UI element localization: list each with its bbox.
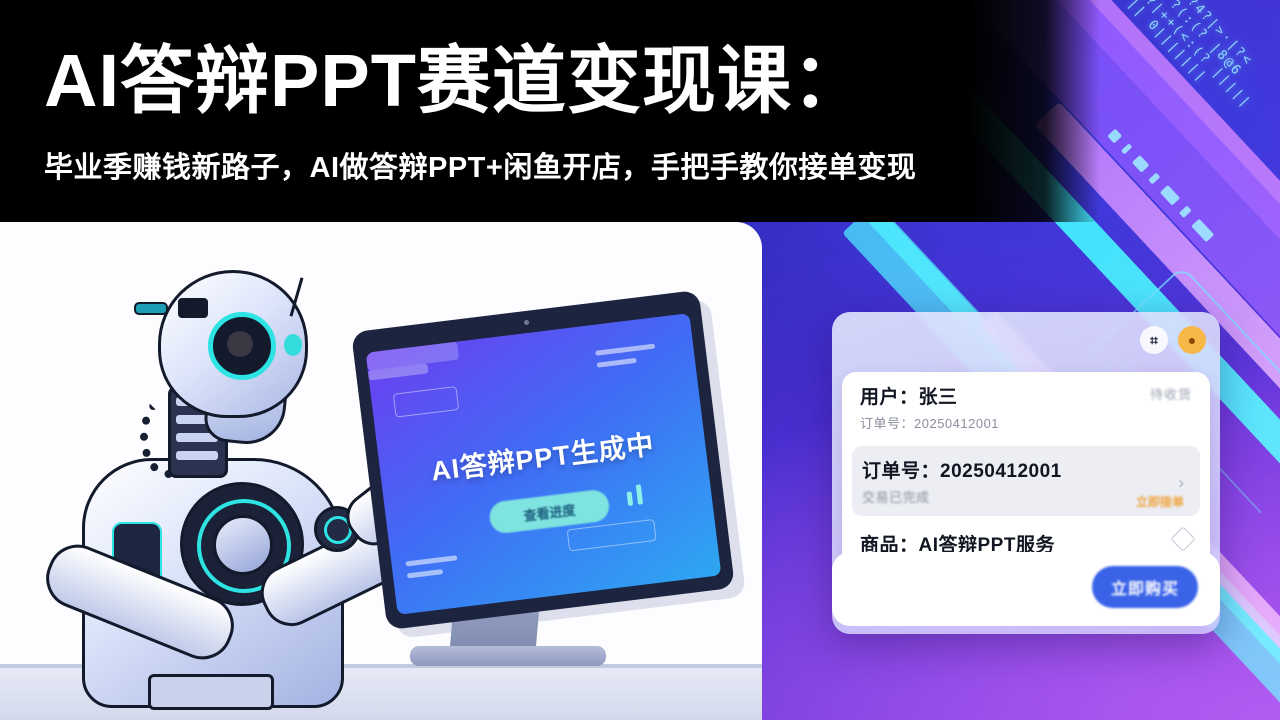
page-title: AI答辩PPT赛道变现课：	[44, 40, 867, 122]
order-action-tag[interactable]: 立即接单	[1136, 493, 1184, 510]
order-user-label: 用户：张三	[860, 382, 1192, 409]
screen-line	[597, 358, 637, 368]
screen-panel	[393, 386, 459, 418]
robot-illustration	[56, 270, 386, 700]
page-subtitle: 毕业季赚钱新路子，AI做答辩PPT+闲鱼开店，手把手教你接单变现	[44, 148, 916, 188]
screen-bar	[636, 484, 643, 504]
order-number-label: 订单号：20250412001	[862, 456, 1190, 483]
robot-visor	[178, 298, 208, 318]
order-user-sub: 订单号：20250412001	[860, 413, 1192, 432]
screen-line	[405, 555, 457, 566]
order-sheet: 用户：张三 订单号：20250412001 待收货 订单号：2025041200…	[842, 372, 1210, 568]
robot-pupil	[227, 331, 253, 357]
chip	[1148, 173, 1160, 185]
robot-eye-icon	[208, 312, 276, 380]
screen-line	[595, 344, 655, 356]
shop-icon[interactable]: ●	[1178, 326, 1206, 354]
illustration-panel: AI答辩PPT生成中 查看进度	[0, 222, 762, 720]
robot-base	[148, 674, 274, 710]
order-row-user[interactable]: 用户：张三 订单号：20250412001 待收货	[842, 372, 1210, 442]
order-card: ⌗ ● 用户：张三 订单号：20250412001 待收货 订单号：202504…	[832, 312, 1220, 634]
screen-headline: AI答辩PPT生成中	[378, 416, 706, 494]
chip	[1179, 206, 1192, 219]
screen-line	[407, 569, 443, 578]
robot-cheek-light	[284, 334, 302, 356]
buy-now-button[interactable]: 立即购买	[1092, 566, 1198, 608]
header-banner: AI答辩PPT赛道变现课： 毕业季赚钱新路子，AI做答辩PPT+闲鱼开店，手把手…	[0, 0, 1100, 222]
order-row-number[interactable]: 订单号：20250412001 交易已完成 › 立即接单	[852, 446, 1200, 516]
head-seam	[290, 277, 304, 316]
share-icon[interactable]: ⌗	[1140, 326, 1168, 354]
poster-stage: |] 1?4?|>·|?< ?| ?(:(? |8@6 |?|++(<:(? |…	[0, 0, 1280, 720]
chip	[1107, 129, 1122, 144]
monitor-screen: AI答辩PPT生成中 查看进度	[366, 313, 722, 615]
order-footer: 立即购买	[832, 552, 1220, 626]
robot-antenna-icon	[134, 302, 168, 315]
chevron-right-icon[interactable]: ›	[1178, 473, 1184, 493]
order-status-ghost: 待收货	[1150, 384, 1192, 403]
neck-segment	[176, 451, 218, 460]
monitor: AI答辩PPT生成中 查看进度	[351, 290, 735, 630]
monitor-base	[410, 646, 606, 666]
shoulder-core	[213, 515, 273, 575]
screen-bar	[627, 491, 634, 506]
card-badges: ⌗ ●	[1140, 326, 1206, 354]
chip	[1121, 144, 1132, 155]
